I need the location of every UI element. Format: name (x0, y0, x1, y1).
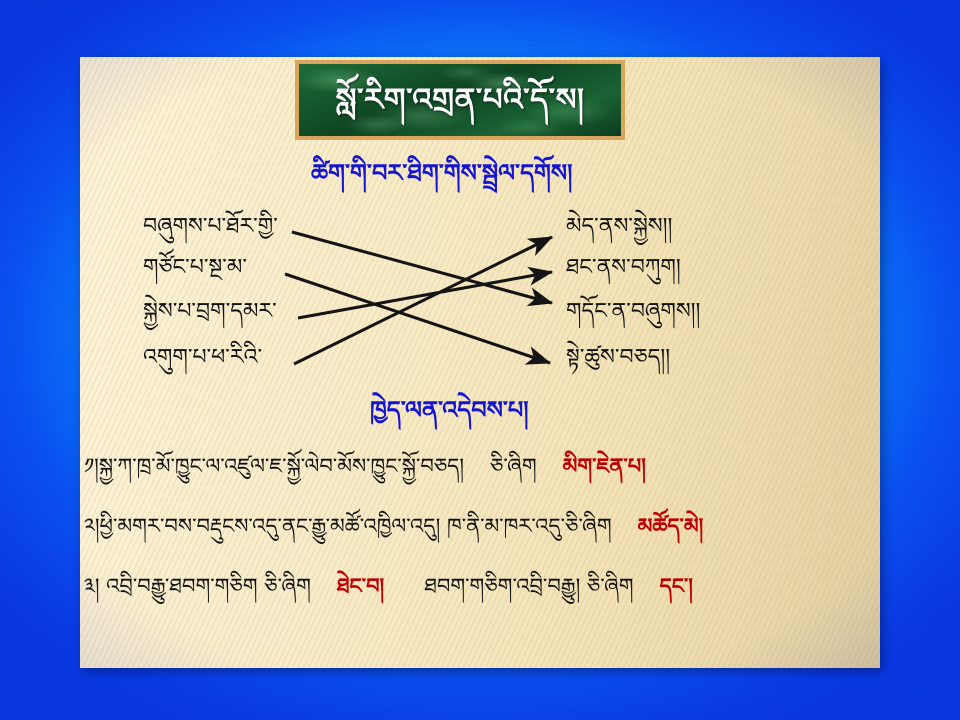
match-right-item-4[interactable]: སྟེ་ཚུས་བཅད།། (566, 347, 670, 369)
qa-row: ༢།ཕྱི་མགར་བས་བརྡུངས་འདུ་ནང་རྒྱུ་མཚོ་འཁྱི… (84, 513, 878, 539)
connector-line-3 (298, 272, 552, 318)
qa-answer-2[interactable]: མཚོད་མེ། (638, 513, 704, 539)
title-plaque: སློ་རིག་འགྲན་པའི་དོ་ས། (295, 60, 625, 140)
match-left-item-4[interactable]: འགུག་པ་ཕ་རིའི་ (143, 347, 262, 369)
match-left-item-1[interactable]: བཞུགས་པ་ཐོར་གྱི་ (143, 216, 278, 238)
qa-question-2: ༢།ཕྱི་མགར་བས་བརྡུངས་འདུ་ནང་རྒྱུ་མཚོ་འཁྱི… (84, 513, 612, 539)
qa-question-1: ༡།སྐྱ་ཀ་ཁྲ་མོ་ཁྱུང་ལ་འཛུལ་ཇ་སྐྱོ་ལེབ་མོས… (84, 453, 464, 479)
matching-section-heading: ཚིག་གི་བར་ཐིག་གིས་སྦྲེལ་དགོས། (311, 161, 572, 185)
connector-line-2 (285, 274, 550, 363)
qa-answer-3b[interactable]: དང་། (660, 573, 693, 599)
connector-line-1 (292, 232, 552, 303)
match-left-item-3[interactable]: སྐྱེས་པ་བྲག་དམར་ (143, 301, 277, 323)
slide-canvas: སློ་རིག་འགྲན་པའི་དོ་ས། ཚིག་གི་བར་ཐིག་གིས… (0, 0, 960, 720)
qa-answer-1[interactable]: མིག་ཇེན་པ། (563, 453, 646, 479)
match-right-item-1[interactable]: མེད་ནས་སྐྱེས།། (566, 216, 672, 238)
qa-question-3a: ༣། འབྲི་བརྒྱུ་ཐབག་གཅིག ཅི་ཞིག (84, 573, 311, 599)
match-right-item-3[interactable]: གདོང་ན་བཞུགས།། (566, 301, 700, 323)
qa-row: ༡།སྐྱ་ཀ་ཁྲ་མོ་ཁྱུང་ལ་འཛུལ་ཇ་སྐྱོ་ལེབ་མོས… (84, 453, 878, 479)
content-panel: སློ་རིག་འགྲན་པའི་དོ་ས། ཚིག་གི་བར་ཐིག་གིས… (80, 57, 880, 668)
match-right-item-2[interactable]: ཐང་ནས་བཀུག། (566, 257, 681, 279)
qa-answer-3a[interactable]: ཐེང་བ། (337, 573, 384, 599)
match-left-item-2[interactable]: གཙོང་པ་སྔ་མ་ (143, 257, 247, 279)
qa-row: ༣། འབྲི་བརྒྱུ་ཐབག་གཅིག ཅི་ཞིག ཐེང་བ། ཐབག… (84, 573, 878, 599)
connector-line-4 (294, 237, 552, 364)
answering-section-heading: ཁྱེད་ལན་འདེབས་པ། (370, 398, 529, 422)
qa-question-3b: ཐབག་གཅིག་འབྲི་བརྒྱུ། ཅི་ཞིག (424, 573, 633, 599)
qa-prompt-1: ཅི་ཞིག (490, 453, 537, 479)
page-title: སློ་རིག་འགྲན་པའི་དོ་ས། (336, 85, 585, 116)
